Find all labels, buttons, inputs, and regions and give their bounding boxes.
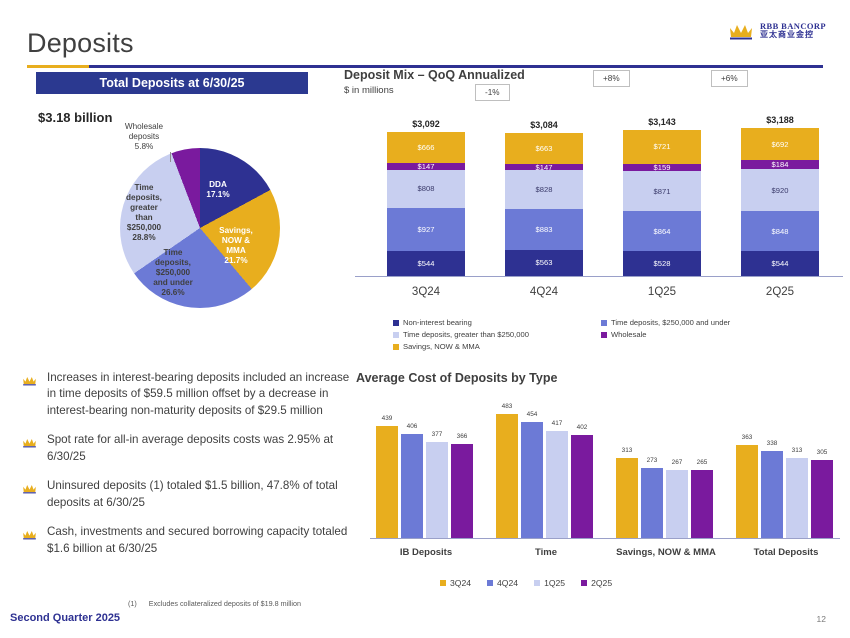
- mix-segment: $808: [387, 170, 465, 208]
- mix-segment-value: $828: [536, 185, 553, 194]
- mix-x-axis: [355, 276, 843, 277]
- mix-x-label: 3Q24: [387, 286, 465, 298]
- qoq-annotation: +8%: [593, 70, 630, 87]
- mix-x-label: 2Q25: [741, 286, 819, 298]
- mix-segment: $528: [623, 251, 701, 276]
- slide: Deposits RBB BANCORP 亚太商业金控 Total Deposi…: [0, 0, 850, 638]
- cost-bar-value: 305: [817, 449, 828, 456]
- company-logo: RBB BANCORP 亚太商业金控: [728, 22, 826, 40]
- list-item: Increases in interest-bearing deposits i…: [22, 370, 352, 419]
- logo-text: RBB BANCORP 亚太商业金控: [760, 22, 826, 39]
- footnote-text: Excludes collateralized deposits of $19.…: [149, 599, 301, 608]
- legend-item: 1Q25: [534, 578, 565, 588]
- cost-group-1: 483454417402: [496, 408, 593, 538]
- mix-segment: $159: [623, 164, 701, 171]
- mix-segment-value: $721: [654, 142, 671, 151]
- mix-segment-value: $808: [418, 184, 435, 193]
- mix-segment: $692: [741, 128, 819, 160]
- cost-bar: 417: [546, 431, 568, 538]
- avg-cost-grouped-bar-chart: 439406377366IB Deposits483454417402Time3…: [370, 395, 840, 560]
- bullet-text: Uninsured deposits (1) totaled $1.5 bill…: [47, 478, 352, 511]
- cost-bar-value: 483: [502, 403, 513, 410]
- cost-bar-value: 417: [552, 420, 563, 427]
- cost-bar-value: 439: [382, 415, 393, 422]
- mix-segment-value: $920: [772, 186, 789, 195]
- avg-cost-legend: 3Q244Q241Q252Q25: [440, 578, 612, 588]
- list-item: Uninsured deposits (1) totaled $1.5 bill…: [22, 478, 352, 511]
- cost-bar-value: 338: [767, 440, 778, 447]
- cost-bar: 313: [616, 458, 638, 538]
- cost-bar-value: 377: [432, 431, 443, 438]
- bullet-text: Increases in interest-bearing deposits i…: [47, 370, 352, 419]
- cost-bar-value: 265: [697, 459, 708, 466]
- mix-segment: $920: [741, 169, 819, 212]
- mix-segment-value: $563: [536, 258, 553, 267]
- cost-bar-value: 363: [742, 434, 753, 441]
- cost-bar: 267: [666, 470, 688, 538]
- legend-swatch: [393, 332, 399, 338]
- mix-bar-total: $3,084: [505, 120, 583, 130]
- legend-label: 4Q24: [497, 578, 518, 588]
- total-deposits-band: Total Deposits at 6/30/25: [36, 72, 308, 94]
- mix-segment: $563: [505, 250, 583, 276]
- mix-x-label: 1Q25: [623, 286, 701, 298]
- total-deposits-amount: $3.18 billion: [38, 110, 112, 125]
- legend-swatch: [534, 580, 540, 586]
- page-number: 12: [817, 614, 826, 624]
- mix-segment: $184: [741, 160, 819, 169]
- legend-spacer: [601, 342, 831, 351]
- list-item: Cash, investments and secured borrowing …: [22, 524, 352, 557]
- cost-bar: 363: [736, 445, 758, 538]
- cost-bar: 483: [496, 414, 518, 538]
- legend-item: Time deposits, $250,000 and under: [601, 318, 831, 327]
- mix-segment: $544: [741, 251, 819, 276]
- qoq-annotation: +6%: [711, 70, 748, 87]
- cost-group-0: 439406377366: [376, 408, 473, 538]
- mix-segment-value: $883: [536, 225, 553, 234]
- legend-item: Time deposits, greater than $250,000: [393, 330, 601, 339]
- legend-swatch: [601, 320, 607, 326]
- mix-segment: $544: [387, 251, 465, 276]
- mix-segment: $883: [505, 209, 583, 250]
- cost-bar-value: 313: [792, 447, 803, 454]
- page-title: Deposits: [27, 28, 134, 59]
- legend-label: 1Q25: [544, 578, 565, 588]
- legend-item: 2Q25: [581, 578, 612, 588]
- cost-bar-value: 406: [407, 423, 418, 430]
- mix-segment-value: $871: [654, 187, 671, 196]
- mix-segment-value: $666: [418, 143, 435, 152]
- legend-label: Wholesale: [611, 330, 646, 339]
- mix-segment-value: $864: [654, 227, 671, 236]
- mix-bar-total: $3,143: [623, 117, 701, 127]
- cost-x-label: Total Deposits: [722, 547, 850, 558]
- qoq-annotation: -1%: [475, 84, 510, 101]
- crown-bullet-icon: [22, 432, 39, 465]
- cost-bar: 265: [691, 470, 713, 538]
- mix-segment: $864: [623, 211, 701, 251]
- mix-segment: $666: [387, 132, 465, 163]
- legend-item: 4Q24: [487, 578, 518, 588]
- mix-segment: $663: [505, 133, 583, 164]
- bullet-list: Increases in interest-bearing deposits i…: [22, 370, 352, 570]
- legend-label: Time deposits, $250,000 and under: [611, 318, 730, 327]
- pie-label-dda: DDA 17.1%: [196, 180, 240, 200]
- legend-item: Savings, NOW & MMA: [393, 342, 601, 351]
- cost-bar-value: 267: [672, 459, 683, 466]
- legend-label: 2Q25: [591, 578, 612, 588]
- crown-bullet-icon: [22, 524, 39, 557]
- cost-bar: 313: [786, 458, 808, 538]
- cost-bar: 454: [521, 422, 543, 538]
- cost-bar: 377: [426, 442, 448, 539]
- footer-quarter-label: Second Quarter 2025: [10, 612, 120, 624]
- crown-bullet-icon: [22, 370, 39, 419]
- cost-bar-value: 273: [647, 457, 658, 464]
- mix-bar-2q25: $692$184$920$848$544: [741, 128, 819, 276]
- legend-swatch: [487, 580, 493, 586]
- cost-x-label: IB Deposits: [362, 547, 490, 558]
- crown-bullet-icon: [22, 478, 39, 511]
- mix-segment: $828: [505, 170, 583, 208]
- deposit-mix-units: $ in millions: [344, 85, 394, 96]
- cost-bar: 338: [761, 451, 783, 538]
- mix-bar-4q24: $663$147$828$883$563: [505, 133, 583, 276]
- legend-label: Time deposits, greater than $250,000: [403, 330, 529, 339]
- bullet-text: Cash, investments and secured borrowing …: [47, 524, 352, 557]
- mix-x-label: 4Q24: [505, 286, 583, 298]
- mix-segment: $721: [623, 130, 701, 163]
- mix-segment-value: $692: [772, 140, 789, 149]
- pie-label-time-under: Timedeposits,$250,000and under 26.6%: [142, 248, 204, 298]
- cost-group-3: 363338313305: [736, 408, 833, 538]
- cost-x-label: Savings, NOW & MMA: [602, 547, 730, 558]
- legend-item: Non-interest bearing: [393, 318, 601, 327]
- legend-item: Wholesale: [601, 330, 831, 339]
- cost-bar: 366: [451, 444, 473, 538]
- cost-bar: 305: [811, 460, 833, 538]
- pie-leader-wholesale: [170, 152, 171, 162]
- cost-bar: 402: [571, 435, 593, 538]
- legend-label: Savings, NOW & MMA: [403, 342, 480, 351]
- mix-segment-value: $848: [772, 227, 789, 236]
- cost-bar-value: 454: [527, 411, 538, 418]
- mix-segment: $927: [387, 208, 465, 251]
- cost-bar-value: 313: [622, 447, 633, 454]
- cost-group-2: 313273267265: [616, 408, 713, 538]
- mix-bar-3q24: $666$147$808$927$544: [387, 132, 465, 276]
- legend-label: 3Q24: [450, 578, 471, 588]
- title-rule-gold: [27, 65, 89, 68]
- pie-label-time-over: Timedeposits,greaterthan$250,000 28.8%: [116, 183, 172, 243]
- mix-segment-value: $544: [772, 259, 789, 268]
- legend-label: Non-interest bearing: [403, 318, 472, 327]
- mix-segment-value: $184: [772, 160, 789, 169]
- bullet-text: Spot rate for all-in average deposits co…: [47, 432, 352, 465]
- mix-bar-1q25: $721$159$871$864$528: [623, 130, 701, 276]
- mix-segment: $871: [623, 171, 701, 211]
- list-item: Spot rate for all-in average deposits co…: [22, 432, 352, 465]
- footnote: (1) Excludes collateralized deposits of …: [128, 599, 301, 608]
- crown-icon: [728, 22, 754, 40]
- cost-bar: 406: [401, 434, 423, 538]
- mix-bar-total: $3,188: [741, 115, 819, 125]
- pie-label-wholesale: Wholesale deposits 5.8%: [113, 122, 175, 152]
- mix-segment: $848: [741, 211, 819, 250]
- cost-bar: 439: [376, 426, 398, 538]
- legend-item: 3Q24: [440, 578, 471, 588]
- mix-segment-value: $544: [418, 259, 435, 268]
- cost-bar-value: 366: [457, 433, 468, 440]
- cost-x-axis: [370, 538, 840, 539]
- deposit-mix-legend: Non-interest bearingTime deposits, $250,…: [393, 318, 843, 351]
- mix-segment-value: $927: [418, 225, 435, 234]
- avg-cost-title: Average Cost of Deposits by Type: [356, 371, 557, 385]
- legend-swatch: [440, 580, 446, 586]
- legend-swatch: [393, 320, 399, 326]
- mix-segment-value: $528: [654, 259, 671, 268]
- mix-segment: $147: [387, 163, 465, 170]
- mix-segment: $147: [505, 164, 583, 171]
- cost-bar: 273: [641, 468, 663, 538]
- mix-bar-total: $3,092: [387, 119, 465, 129]
- cost-x-label: Time: [482, 547, 610, 558]
- legend-swatch: [601, 332, 607, 338]
- mix-segment-value: $663: [536, 144, 553, 153]
- pie-label-savings: Savings,NOW &MMA 21.7%: [212, 226, 260, 266]
- legend-swatch: [581, 580, 587, 586]
- logo-name-cn: 亚太商业金控: [760, 31, 826, 39]
- footnote-marker: (1): [128, 599, 137, 608]
- deposit-mix-title: Deposit Mix – QoQ Annualized: [344, 68, 525, 82]
- deposit-mix-stacked-bar-chart: $666$147$808$927$544$3,0923Q24$663$147$8…: [355, 118, 843, 298]
- legend-swatch: [393, 344, 399, 350]
- cost-bar-value: 402: [577, 424, 588, 431]
